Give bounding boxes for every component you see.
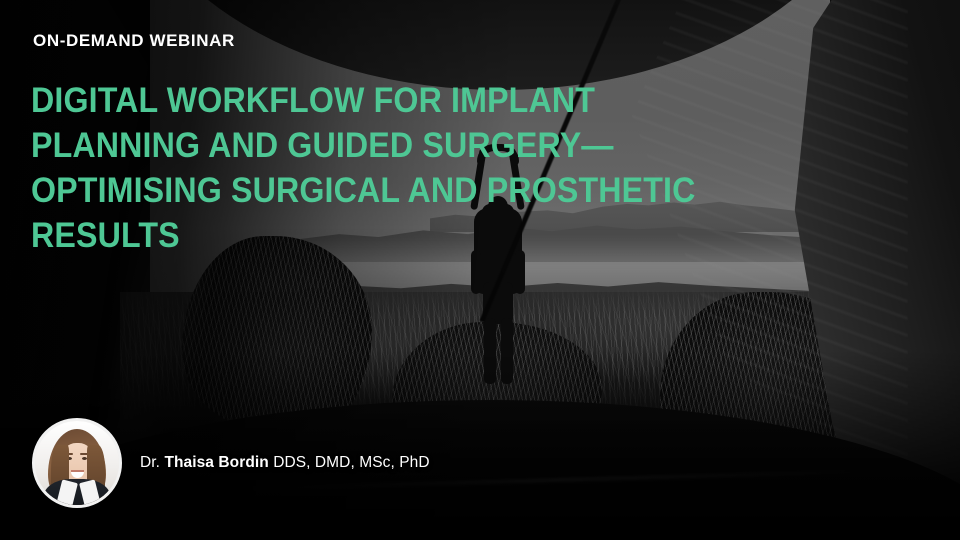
speaker-credentials: DDS, DMD, MSc, PhD: [273, 454, 429, 471]
title-line-3: OPTIMISING SURGICAL AND PROSTHETIC: [31, 168, 620, 213]
speaker-name: Dr. Thaisa Bordin DDS, DMD, MSc, PhD: [140, 454, 430, 472]
title-line-4: RESULTS: [31, 213, 620, 258]
title-line-2: PLANNING AND GUIDED SURGERY—: [31, 123, 620, 168]
avatar: [32, 418, 122, 508]
title-line-1: DIGITAL WORKFLOW FOR IMPLANT: [31, 78, 620, 123]
slide-content: ON-DEMAND WEBINAR DIGITAL WORKFLOW FOR I…: [0, 0, 960, 540]
page-title: DIGITAL WORKFLOW FOR IMPLANT PLANNING AN…: [31, 78, 620, 258]
speaker-prefix: Dr.: [140, 454, 160, 471]
speaker-block: Dr. Thaisa Bordin DDS, DMD, MSc, PhD: [32, 418, 430, 508]
eyebrow-label: ON-DEMAND WEBINAR: [33, 32, 235, 49]
webinar-title-card: ON-DEMAND WEBINAR DIGITAL WORKFLOW FOR I…: [0, 0, 960, 540]
speaker-full-name: Thaisa Bordin: [164, 454, 268, 471]
